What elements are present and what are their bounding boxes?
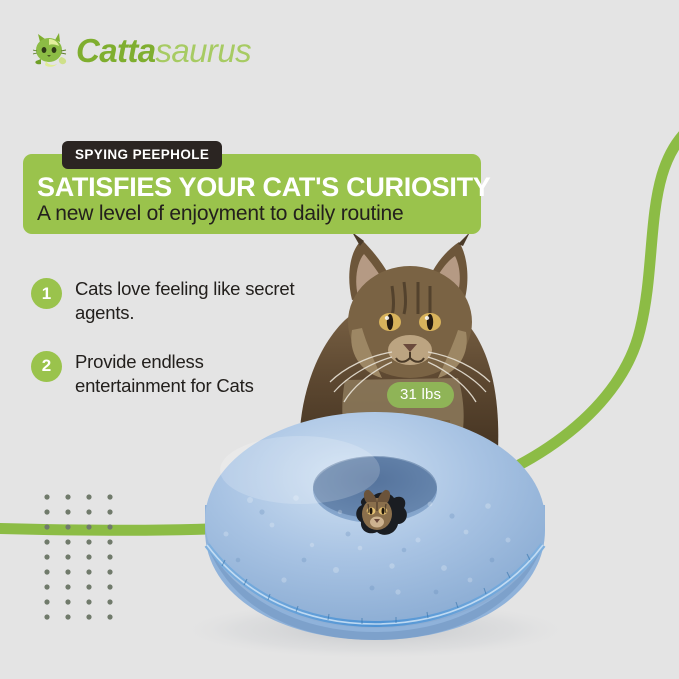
infographic-page: Cattasaurus SPYING PEEPHOLE SATISFIES YO… (0, 0, 679, 679)
bed-zipper (207, 545, 543, 624)
weight-badge: 31 lbs (387, 382, 454, 408)
decorative-dot-grid (44, 494, 112, 619)
bed-fleece-texture (224, 495, 511, 594)
feature-text: Provide endless entertainment for Cats (75, 350, 301, 399)
brand-name-part2: saurus (156, 32, 251, 69)
brand-logo[interactable]: Cattasaurus (33, 31, 251, 69)
donut-bed (205, 412, 545, 640)
feature-text: Cats love feeling like secret agents. (75, 277, 301, 326)
peephole-opening (356, 493, 407, 535)
subheadline-text: A new level of enjoyment to daily routin… (37, 202, 404, 226)
cat-dinosaur-mascot-icon (33, 31, 69, 69)
brand-name-part1: Catta (76, 32, 156, 69)
feature-list: 1 Cats love feeling like secret agents. … (31, 277, 301, 423)
feature-number-badge: 1 (31, 278, 62, 309)
list-item: 1 Cats love feeling like secret agents. (31, 277, 301, 326)
bed-shadow (175, 600, 575, 660)
list-item: 2 Provide endless entertainment for Cats (31, 350, 301, 399)
feature-badge: SPYING PEEPHOLE (62, 141, 222, 169)
kitten-in-peephole (362, 490, 392, 530)
maine-coon-cat (299, 232, 498, 512)
brand-wordmark: Cattasaurus (76, 34, 251, 67)
headline-text: SATISFIES YOUR CAT'S CURIOSITY (37, 172, 490, 203)
feature-number-badge: 2 (31, 351, 62, 382)
